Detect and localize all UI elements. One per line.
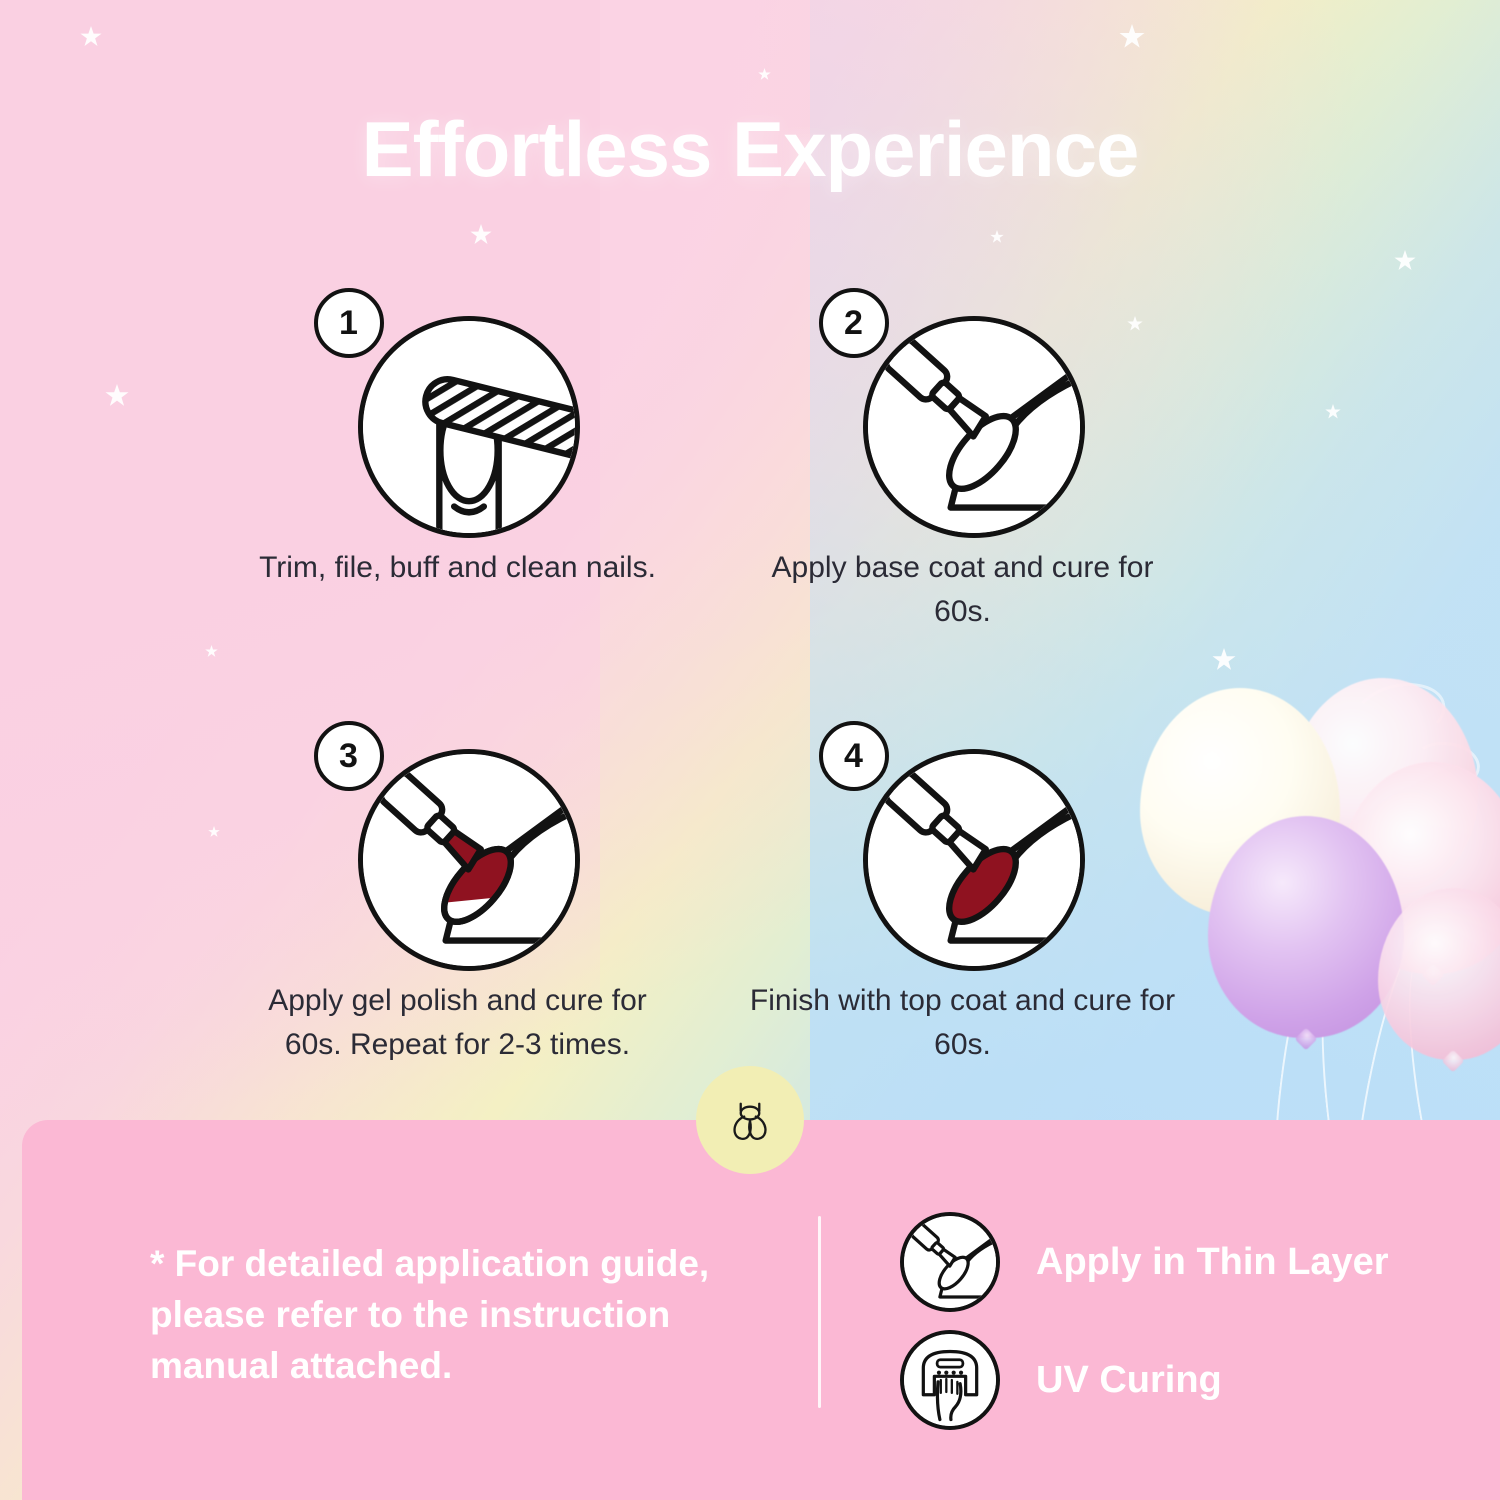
brush-nail-icon	[900, 1212, 1000, 1312]
brand-logo-icon	[696, 1066, 804, 1174]
step-caption-1: Trim, file, buff and clean nails.	[238, 546, 678, 590]
steps-row-top: 1	[205, 288, 1215, 633]
step-card-2: 2	[710, 288, 1215, 633]
step-graphic-3: 3	[308, 721, 608, 961]
page-title: Effortless Experience	[0, 104, 1500, 195]
steps-row-bottom: 3	[205, 721, 1215, 1066]
brush-top-coat-icon	[863, 749, 1085, 971]
footer-divider	[818, 1216, 821, 1408]
feature-item-uv-curing: UV Curing	[900, 1330, 1389, 1430]
feature-item-thin-layer: Apply in Thin Layer	[900, 1212, 1389, 1312]
footer-features: Apply in Thin Layer	[900, 1212, 1389, 1448]
step-badge-3: 3	[314, 721, 384, 791]
nail-file-icon	[358, 316, 580, 538]
brush-base-coat-icon	[863, 316, 1085, 538]
step-graphic-2: 2	[813, 288, 1113, 528]
step-badge-1: 1	[314, 288, 384, 358]
step-caption-2: Apply base coat and cure for 60s.	[743, 546, 1183, 633]
step-card-1: 1	[205, 288, 710, 633]
step-card-3: 3	[205, 721, 710, 1066]
balloon-purple	[1208, 816, 1404, 1038]
uv-lamp-icon	[900, 1330, 1000, 1430]
step-card-4: 4	[710, 721, 1215, 1066]
step-caption-3: Apply gel polish and cure for 60s. Repea…	[238, 979, 678, 1066]
footer-note: * For detailed application guide, please…	[150, 1238, 770, 1391]
step-badge-4: 4	[819, 721, 889, 791]
brush-gel-polish-icon	[358, 749, 580, 971]
step-graphic-1: 1	[308, 288, 608, 528]
feature-label-uv-curing: UV Curing	[1036, 1359, 1222, 1402]
step-caption-4: Finish with top coat and cure for 60s.	[743, 979, 1183, 1066]
steps-grid: 1	[205, 288, 1215, 1066]
infographic-canvas: Effortless Experience 1	[0, 0, 1500, 1500]
step-graphic-4: 4	[813, 721, 1113, 961]
feature-label-thin-layer: Apply in Thin Layer	[1036, 1241, 1389, 1284]
step-badge-2: 2	[819, 288, 889, 358]
